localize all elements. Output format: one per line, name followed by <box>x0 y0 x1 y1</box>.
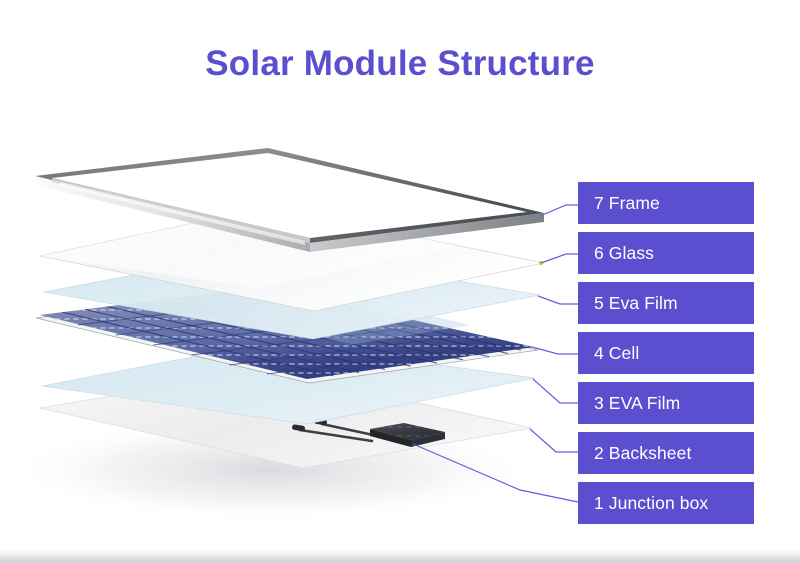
bottom-strip <box>0 549 800 563</box>
label-box-frame[interactable]: 7 Frame <box>578 182 754 224</box>
label-box-backsheet[interactable]: 2 Backsheet <box>578 432 754 474</box>
label-text-backsheet: 2 Backsheet <box>594 443 691 464</box>
label-text-cell: 4 Cell <box>594 343 639 364</box>
leader-line-cell <box>532 347 578 354</box>
label-text-eva-film-upper: 5 Eva Film <box>594 293 678 314</box>
layer-label-stack: 7 Frame 6 Glass 5 Eva Film 4 Cell 3 EVA … <box>578 182 754 532</box>
label-box-junction-box[interactable]: 1 Junction box <box>578 482 754 524</box>
label-box-eva-film-upper[interactable]: 5 Eva Film <box>578 282 754 324</box>
leader-line-glass <box>541 254 578 263</box>
label-text-junction-box: 1 Junction box <box>594 493 708 514</box>
page-root: Solar Module Structure <box>0 0 800 563</box>
label-text-frame: 7 Frame <box>594 193 660 214</box>
label-box-cell[interactable]: 4 Cell <box>578 332 754 374</box>
label-text-eva-film-lower: 3 EVA Film <box>594 393 680 414</box>
leader-line-backsheet <box>530 429 578 452</box>
layer-frame <box>35 148 544 252</box>
label-box-eva-film-lower[interactable]: 3 EVA Film <box>578 382 754 424</box>
label-box-glass[interactable]: 6 Glass <box>578 232 754 274</box>
leader-line-eva-lower <box>533 379 578 403</box>
leader-line-frame <box>540 205 578 216</box>
leader-line-eva-upper <box>538 296 578 304</box>
label-text-glass: 6 Glass <box>594 243 654 264</box>
